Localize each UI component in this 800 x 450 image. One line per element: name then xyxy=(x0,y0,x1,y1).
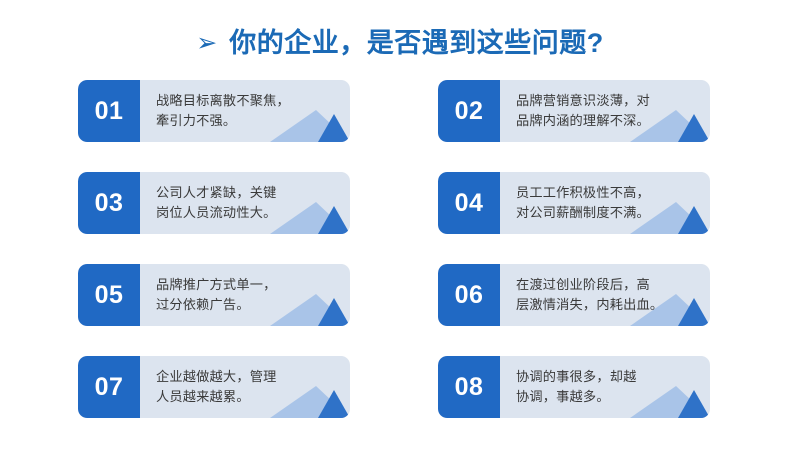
card-number-badge: 07 xyxy=(78,356,140,418)
card-text-line: 公司人才紧缺，关键 xyxy=(156,183,340,203)
card-text-line: 层激情消失，内耗出血。 xyxy=(516,295,700,315)
problem-card[interactable]: 03 公司人才紧缺，关键 岗位人员流动性大。 xyxy=(78,172,350,234)
problem-card[interactable]: 06 在渡过创业阶段后，高 层激情消失，内耗出血。 xyxy=(438,264,710,326)
card-text-body: 品牌营销意识淡薄，对 品牌内涵的理解不深。 xyxy=(500,80,710,142)
problem-card[interactable]: 07 企业越做越大，管理 人员越来越累。 xyxy=(78,356,350,418)
card-number: 04 xyxy=(455,191,484,216)
card-number-badge: 06 xyxy=(438,264,500,326)
page-title: ➢ 你的企业，是否遇到这些问题? xyxy=(0,22,800,66)
card-number: 01 xyxy=(95,99,124,124)
slide-canvas: ➢ 你的企业，是否遇到这些问题? 01 战略目标离散不聚焦， 牽引力不强。 02 xyxy=(0,0,800,450)
card-number-badge: 04 xyxy=(438,172,500,234)
problem-card[interactable]: 01 战略目标离散不聚焦， 牽引力不强。 xyxy=(78,80,350,142)
card-text-line: 企业越做越大，管理 xyxy=(156,367,340,387)
card-text-body: 在渡过创业阶段后，高 层激情消失，内耗出血。 xyxy=(500,264,710,326)
card-text-line: 牽引力不强。 xyxy=(156,111,340,131)
problem-card[interactable]: 05 品牌推广方式单一， 过分依赖广告。 xyxy=(78,264,350,326)
card-number-badge: 02 xyxy=(438,80,500,142)
card-number: 08 xyxy=(455,375,484,400)
card-number: 02 xyxy=(455,99,484,124)
problem-card-grid: 01 战略目标离散不聚焦， 牽引力不强。 02 品牌营销意识淡薄，对 品牌内涵的… xyxy=(78,80,710,428)
problem-card[interactable]: 08 协调的事很多，却越 协调，事越多。 xyxy=(438,356,710,418)
card-text-line: 对公司薪酬制度不满。 xyxy=(516,203,700,223)
card-text-line: 过分依赖广告。 xyxy=(156,295,340,315)
card-number-badge: 01 xyxy=(78,80,140,142)
card-text-line: 员工工作积极性不高， xyxy=(516,183,700,203)
card-text-body: 战略目标离散不聚焦， 牽引力不强。 xyxy=(140,80,350,142)
card-text-line: 协调的事很多，却越 xyxy=(516,367,700,387)
page-title-text: 你的企业，是否遇到这些问题? xyxy=(229,29,604,59)
card-text-body: 公司人才紧缺，关键 岗位人员流动性大。 xyxy=(140,172,350,234)
card-number: 06 xyxy=(455,283,484,308)
card-text-body: 品牌推广方式单一， 过分依赖广告。 xyxy=(140,264,350,326)
card-number: 05 xyxy=(95,283,124,308)
card-text-body: 企业越做越大，管理 人员越来越累。 xyxy=(140,356,350,418)
card-number: 07 xyxy=(95,375,124,400)
card-number-badge: 03 xyxy=(78,172,140,234)
arrow-bullet-icon: ➢ xyxy=(196,31,217,56)
card-number: 03 xyxy=(95,191,124,216)
problem-card[interactable]: 02 品牌营销意识淡薄，对 品牌内涵的理解不深。 xyxy=(438,80,710,142)
card-number-badge: 05 xyxy=(78,264,140,326)
card-text-line: 人员越来越累。 xyxy=(156,387,340,407)
card-text-body: 员工工作积极性不高， 对公司薪酬制度不满。 xyxy=(500,172,710,234)
card-text-line: 在渡过创业阶段后，高 xyxy=(516,275,700,295)
card-text-line: 岗位人员流动性大。 xyxy=(156,203,340,223)
card-text-body: 协调的事很多，却越 协调，事越多。 xyxy=(500,356,710,418)
card-text-line: 品牌营销意识淡薄，对 xyxy=(516,91,700,111)
problem-card[interactable]: 04 员工工作积极性不高， 对公司薪酬制度不满。 xyxy=(438,172,710,234)
card-text-line: 战略目标离散不聚焦， xyxy=(156,91,340,111)
card-text-line: 协调，事越多。 xyxy=(516,387,700,407)
card-text-line: 品牌内涵的理解不深。 xyxy=(516,111,700,131)
card-number-badge: 08 xyxy=(438,356,500,418)
card-text-line: 品牌推广方式单一， xyxy=(156,275,340,295)
